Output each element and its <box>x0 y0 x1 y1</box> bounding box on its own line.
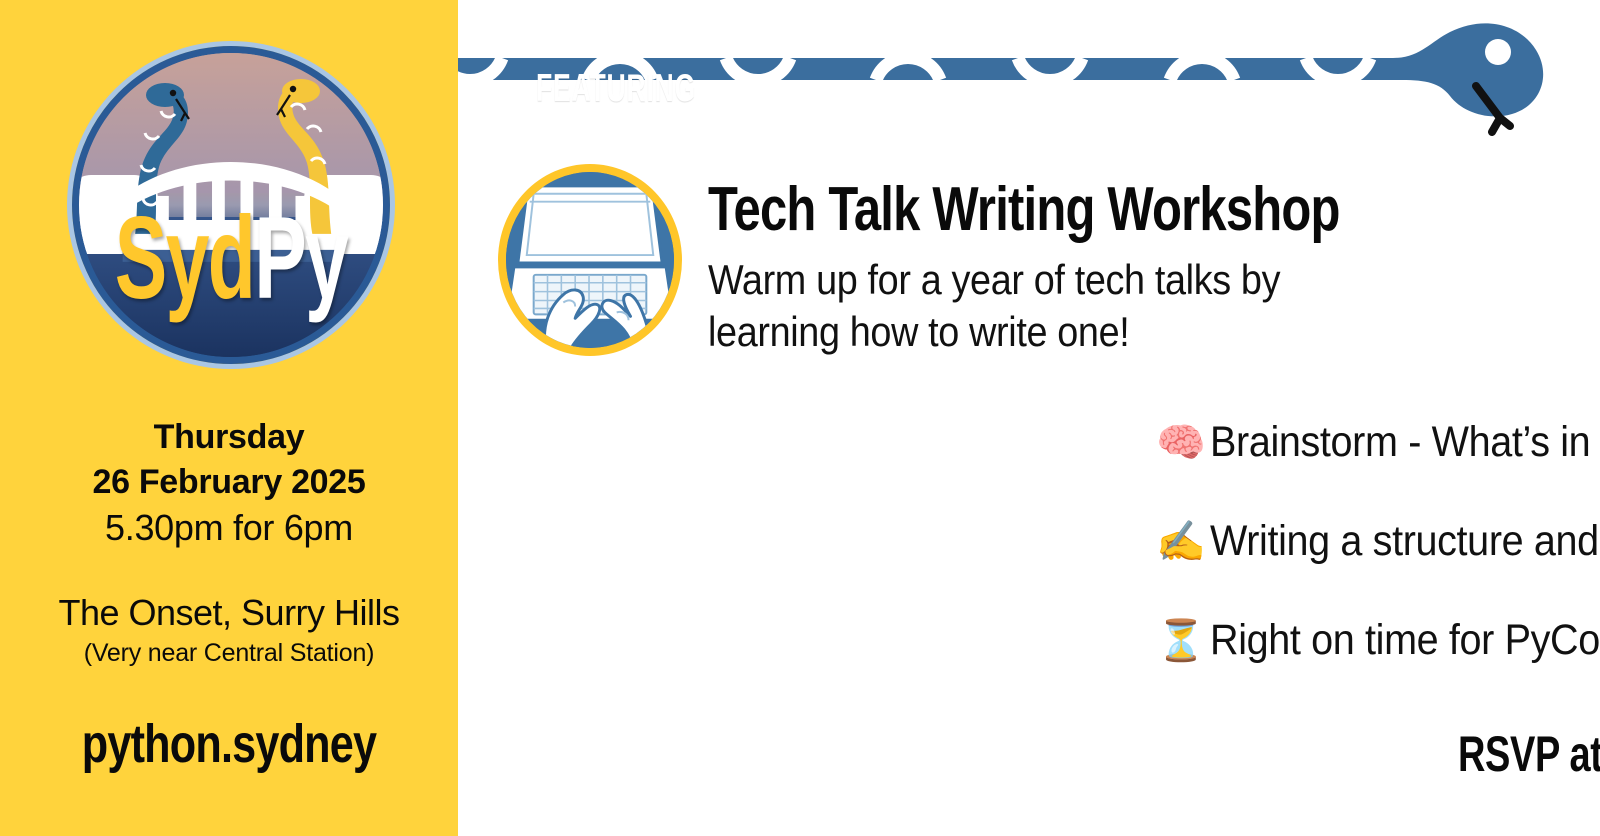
writing-hand-emoji: ✍️ <box>1156 522 1210 562</box>
snake-banner: FEATURING <box>458 0 1600 150</box>
logo-wordmark-syd: Syd <box>115 193 254 324</box>
event-date: 26 February 2025 <box>0 460 458 505</box>
list-item: 🧠 Brainstorm - What’s in a good talk? <box>1156 418 1600 467</box>
speaker-avatar <box>498 164 682 356</box>
sydpy-logo: SydPy <box>72 46 390 364</box>
logo-wordmark-y: y <box>305 193 347 324</box>
talk-subtitle: Warm up for a year of tech talks by lear… <box>708 254 1392 357</box>
list-item-label: Right on time for PyCon AU proposals! <box>1210 616 1600 665</box>
event-venue-note: (Very near Central Station) <box>0 636 458 671</box>
event-time: 5.30pm for 6pm <box>0 505 458 551</box>
rsvp-label: RSVP at <box>1458 725 1600 783</box>
list-item-label: Writing a structure and proposal <box>1210 517 1600 566</box>
hourglass-emoji: ⏳ <box>1156 621 1210 661</box>
brain-emoji: 🧠 <box>1156 423 1210 463</box>
logo-wordmark-p: P <box>254 193 305 324</box>
event-flyer: SydPy Thursday 26 February 2025 5.30pm f… <box>0 0 1600 836</box>
talk-subtitle-line2: learning how to write one! <box>708 306 1392 358</box>
list-item-label: Brainstorm - What’s in a good talk? <box>1210 418 1600 467</box>
talk-copy: Tech Talk Writing Workshop Warm up for a… <box>708 164 1508 358</box>
logo-wordmark: SydPy <box>106 201 355 318</box>
website-link[interactable]: python.sydney <box>46 713 412 775</box>
talk-header: Tech Talk Writing Workshop Warm up for a… <box>498 164 1508 358</box>
list-item: ✍️ Writing a structure and proposal <box>1156 517 1600 566</box>
logo-circle: SydPy <box>72 46 390 364</box>
event-details: Thursday 26 February 2025 5.30pm for 6pm… <box>0 415 458 671</box>
list-item: ⏳ Right on time for PyCon AU proposals! <box>1156 616 1600 665</box>
event-venue: The Onset, Surry Hills <box>0 591 458 634</box>
talk-title: Tech Talk Writing Workshop <box>708 178 1340 241</box>
content-panel: FEATURING <box>458 0 1600 836</box>
sidebar-panel: SydPy Thursday 26 February 2025 5.30pm f… <box>0 0 458 836</box>
event-day: Thursday <box>0 415 458 460</box>
talk-subtitle-line1: Warm up for a year of tech talks by <box>708 254 1392 306</box>
agenda-list: 🧠 Brainstorm - What’s in a good talk? ✍️… <box>1156 418 1600 665</box>
featuring-label: FEATURING <box>536 66 696 111</box>
rsvp-section: RSVP at lu.ma/sydneypython <box>1458 718 1600 790</box>
